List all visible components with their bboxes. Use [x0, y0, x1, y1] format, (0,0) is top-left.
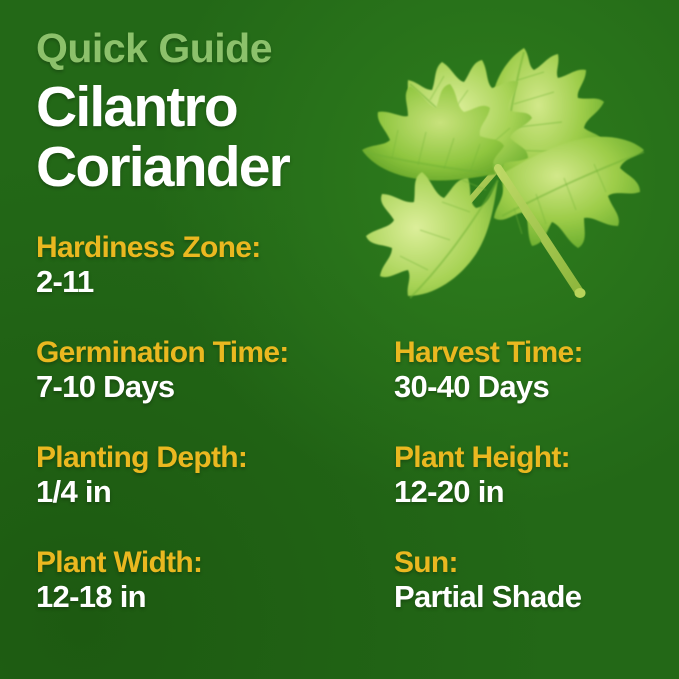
- quick-guide-card: Quick Guide Cilantro Coriander: [0, 0, 679, 679]
- header: Quick Guide Cilantro Coriander: [36, 28, 376, 196]
- fact-label: Hardiness Zone:: [36, 232, 388, 263]
- fact-label: Plant Width:: [36, 547, 388, 578]
- page-title-line-2: Coriander: [36, 140, 376, 196]
- fact-label: Harvest Time:: [394, 337, 644, 368]
- page-title-line-1: Cilantro: [36, 80, 376, 136]
- fact-value: 2-11: [36, 266, 388, 298]
- fact-value: 7-10 Days: [36, 371, 388, 403]
- fact-label: Plant Height:: [394, 442, 644, 473]
- fact-hardiness-zone: Hardiness Zone: 2-11: [36, 232, 394, 337]
- fact-value: 30-40 Days: [394, 371, 644, 403]
- fact-value: 1/4 in: [36, 476, 388, 508]
- fact-label: Planting Depth:: [36, 442, 388, 473]
- fact-label: Sun:: [394, 547, 644, 578]
- fact-value: 12-20 in: [394, 476, 644, 508]
- kicker-quick-guide: Quick Guide: [36, 28, 376, 68]
- fact-germination-time: Germination Time: 7-10 Days: [36, 337, 394, 442]
- fact-planting-depth: Planting Depth: 1/4 in: [36, 442, 394, 547]
- fact-plant-width: Plant Width: 12-18 in: [36, 547, 394, 652]
- fact-value: 12-18 in: [36, 581, 388, 613]
- fact-sun: Sun: Partial Shade: [394, 547, 650, 652]
- facts-grid: Hardiness Zone: 2-11 Germination Time: 7…: [36, 232, 650, 652]
- fact-label: Germination Time:: [36, 337, 388, 368]
- fact-plant-height: Plant Height: 12-20 in: [394, 442, 650, 547]
- fact-harvest-time: Harvest Time: 30-40 Days: [394, 337, 650, 442]
- fact-value: Partial Shade: [394, 581, 644, 613]
